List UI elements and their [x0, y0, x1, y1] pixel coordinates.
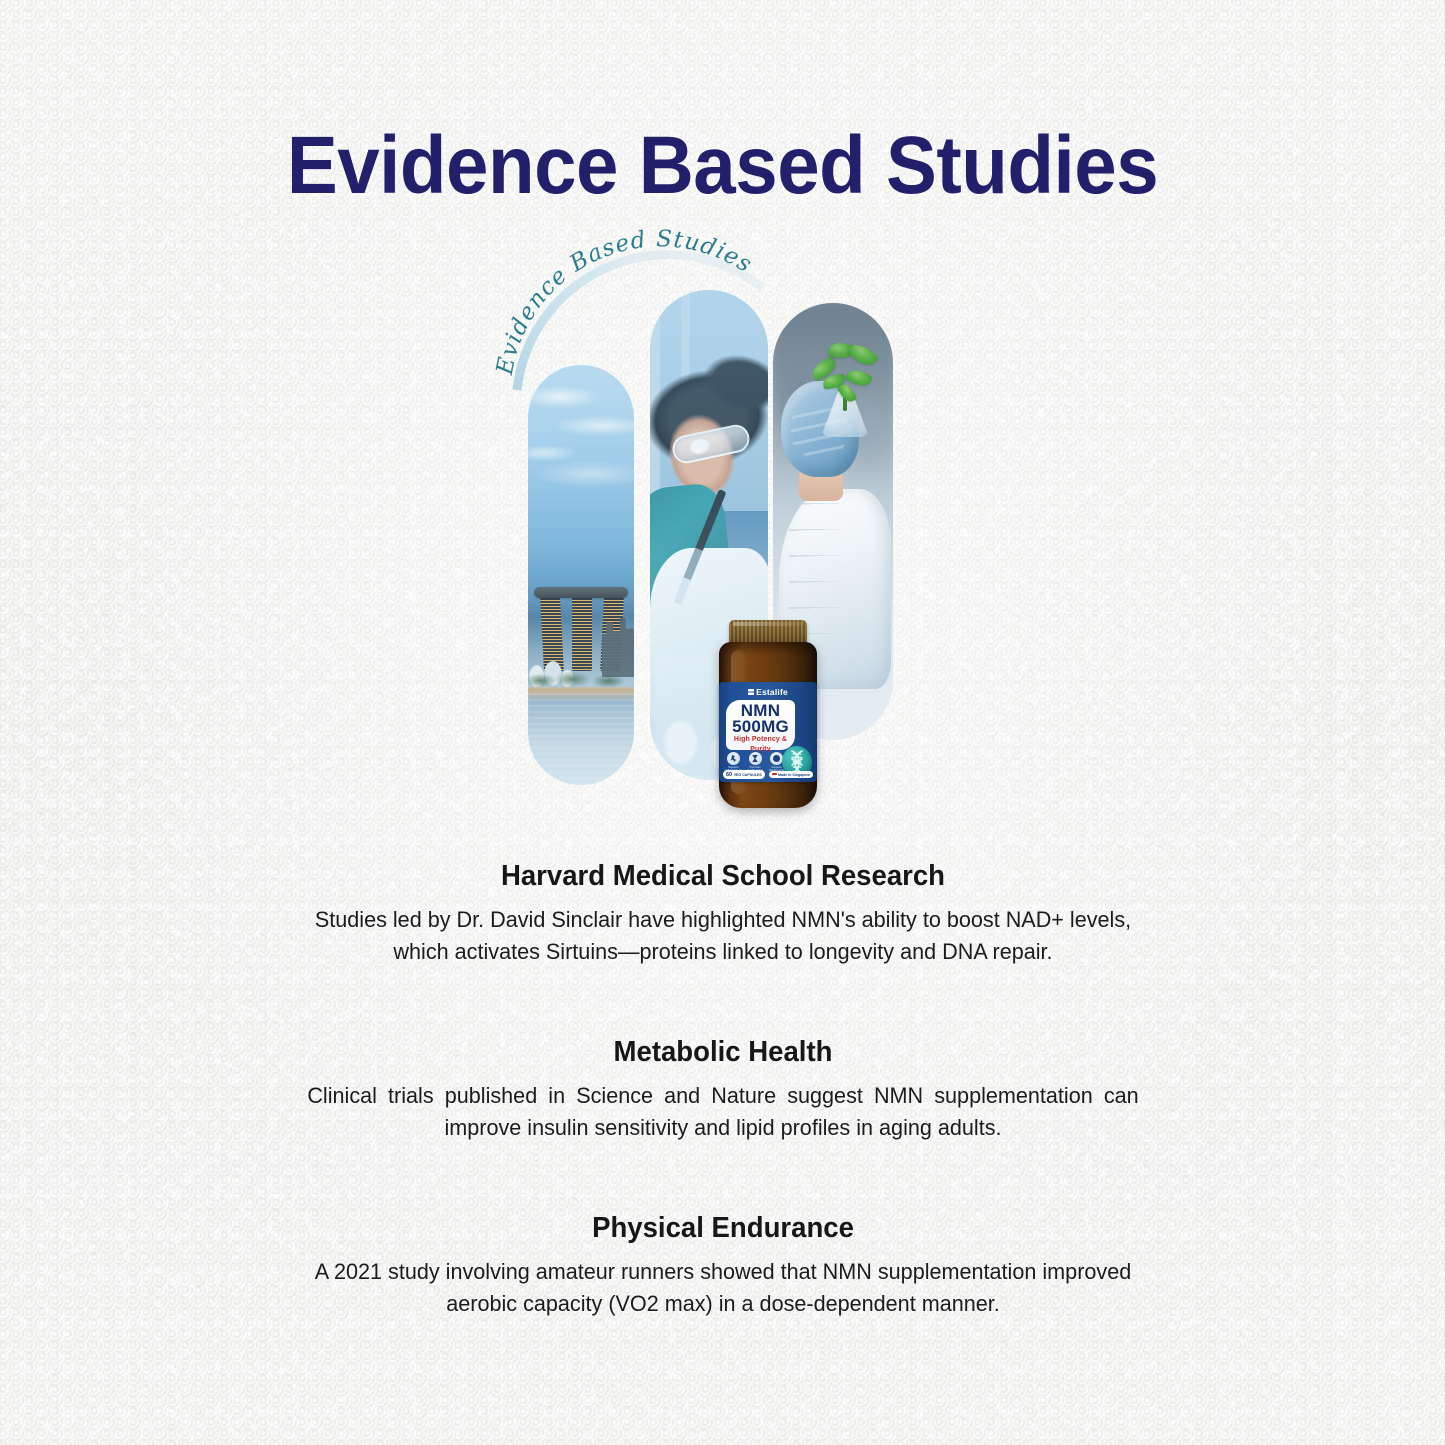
- image-collage: Evidence Based Studies: [495, 255, 950, 830]
- capsule-type: VEG CAPSULES: [734, 773, 762, 777]
- cell-icon: [770, 752, 783, 765]
- runner-icon: [727, 752, 740, 765]
- section-metabolic-health: Metabolic Health Clinical trials publish…: [290, 1034, 1156, 1144]
- section-physical-endurance: Physical Endurance A 2021 study involvin…: [290, 1210, 1156, 1320]
- hourglass-icon: [749, 752, 762, 765]
- brand-name: Estalife: [756, 687, 788, 697]
- label-bottom-row: 60 VEG CAPSULES Made in Singapore: [723, 770, 813, 779]
- page-title: Evidence Based Studies: [51, 122, 1395, 211]
- label-headline-panel: NMN 500MG High Potency & Purity: [726, 700, 795, 750]
- product-bottle: Estalife NMN 500MG High Potency & Purity…: [713, 620, 823, 810]
- section-title: Physical Endurance: [312, 1210, 1135, 1246]
- panel-singapore-skyline: [528, 365, 634, 785]
- section-body: Studies led by Dr. David Sinclair have h…: [307, 904, 1138, 968]
- singapore-flag-icon: [772, 773, 777, 777]
- origin-badge: Made in Singapore: [769, 771, 813, 778]
- brand-row: Estalife: [719, 685, 817, 698]
- section-title: Metabolic Health: [312, 1034, 1135, 1070]
- product-dosage: 500MG: [726, 719, 795, 735]
- poster-page: Evidence Based Studies Evidence Based St…: [0, 0, 1445, 1445]
- bottle-label: Estalife NMN 500MG High Potency & Purity…: [719, 682, 817, 782]
- origin-label: Made in Singapore: [778, 773, 810, 777]
- estalife-logo-icon: [748, 689, 754, 695]
- panel-glaze: [528, 365, 634, 785]
- capsule-count: 60: [726, 772, 732, 778]
- section-body: A 2021 study involving amateur runners s…: [307, 1256, 1138, 1320]
- studies-sections: Harvard Medical School Research Studies …: [290, 858, 1156, 1320]
- capsule-count-badge: 60 VEG CAPSULES: [723, 770, 765, 779]
- section-harvard-medical-school-research: Harvard Medical School Research Studies …: [290, 858, 1156, 968]
- section-body: Clinical trials published in Science and…: [307, 1080, 1138, 1144]
- section-title: Harvard Medical School Research: [312, 858, 1135, 894]
